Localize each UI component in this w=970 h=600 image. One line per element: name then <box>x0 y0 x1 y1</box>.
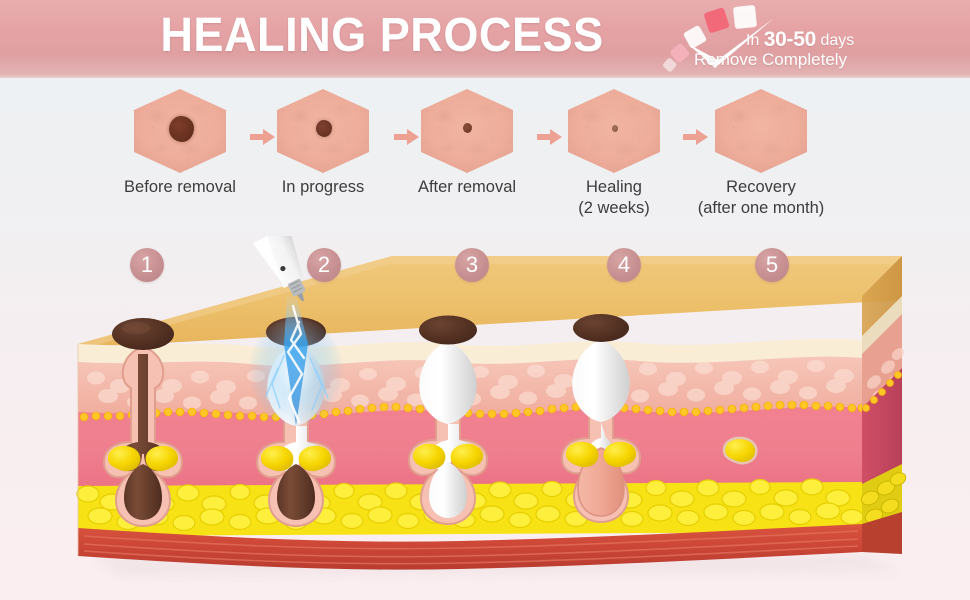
hex-skin-swatch-4 <box>568 89 660 173</box>
page-title: HEALING PROCESS <box>128 4 636 68</box>
hex-stage-3: After removal <box>392 85 542 173</box>
stage-number-4[interactable]: 4 <box>607 248 641 282</box>
hex-label-4: Healing (2 weeks) <box>539 177 689 219</box>
hex-label-1: Before removal <box>105 177 255 198</box>
stage-thumbnail-row: Before removal In progress After removal <box>0 85 970 225</box>
hex-skin-swatch-2 <box>277 89 369 173</box>
badge-duration-suffix: days <box>820 32 854 49</box>
mole-medium <box>316 120 332 137</box>
stage-number-1[interactable]: 1 <box>130 248 164 282</box>
hex-label-3: After removal <box>392 177 542 198</box>
badge-duration-line: In 30-50 days <box>746 28 854 52</box>
stage-number-5[interactable]: 5 <box>755 248 789 282</box>
skin-hexagon <box>715 89 807 173</box>
mole-large <box>169 116 194 142</box>
hex-stage-4: Healing (2 weeks) <box>539 85 689 173</box>
hex-stage-1: Before removal <box>105 85 255 173</box>
mole-tiny <box>612 125 618 132</box>
infographic-canvas: HEALING PROCESS In 30-50 days Remove Com… <box>0 0 970 600</box>
badge-duration-prefix: In <box>746 32 759 49</box>
badge-duration-number: 30-50 <box>764 28 816 51</box>
hex-label-5: Recovery (after one month) <box>686 177 836 219</box>
follicle-stage-5-recovered <box>724 438 756 463</box>
promo-badge: In 30-50 days Remove Completely <box>660 0 910 78</box>
stage-number-2[interactable]: 2 <box>307 248 341 282</box>
hex-label-2: In progress <box>248 177 398 198</box>
mole-small <box>463 123 472 133</box>
badge-tagline: Remove Completely <box>694 50 847 70</box>
stage-number-3[interactable]: 3 <box>455 248 489 282</box>
hex-stage-5: Recovery (after one month) <box>686 85 836 173</box>
skin-cross-section-diagram: 1 2 3 4 5 <box>0 236 970 600</box>
hex-skin-swatch-5 <box>715 89 807 173</box>
header-banner: HEALING PROCESS In 30-50 days Remove Com… <box>0 0 970 78</box>
skin-right-side-face <box>859 256 908 554</box>
hex-skin-swatch-1 <box>134 89 226 173</box>
hex-skin-swatch-3 <box>421 89 513 173</box>
hex-stage-2: In progress <box>248 85 398 173</box>
